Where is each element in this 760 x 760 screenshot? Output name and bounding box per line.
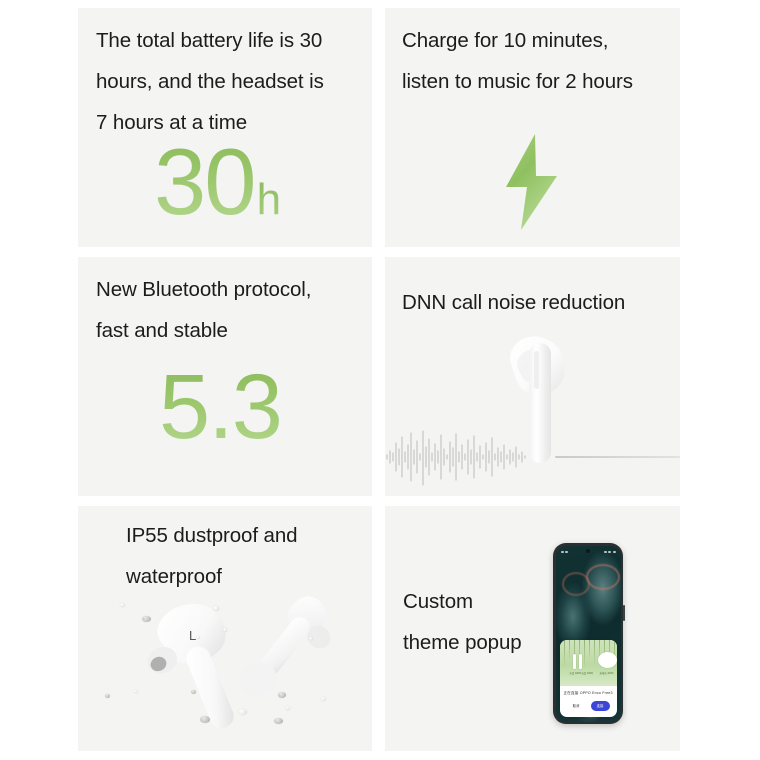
card-noise-reduction: DNN call noise reduction bbox=[385, 257, 680, 496]
water-droplet bbox=[134, 690, 138, 693]
popup-device-name: 正在连接 OPPO Enco Free3 bbox=[560, 686, 617, 699]
wallpaper-ring bbox=[586, 564, 620, 590]
signal-icon bbox=[604, 551, 607, 553]
water-droplet bbox=[105, 694, 110, 698]
popup-left-bud-label: 左耳 100% bbox=[570, 671, 582, 675]
water-droplet bbox=[142, 616, 151, 622]
battery-life-stat-number: 30 bbox=[154, 139, 255, 225]
popup-right-bud-label: 右耳 100% bbox=[582, 671, 594, 675]
phone-side-button bbox=[623, 605, 625, 621]
card-noise-reduction-title: DNN call noise reduction bbox=[402, 282, 677, 323]
popup-connect-button[interactable]: 连接 bbox=[591, 701, 610, 711]
water-droplet bbox=[321, 697, 326, 701]
feature-grid-page: The total battery life is 30 hours, and … bbox=[0, 0, 760, 760]
water-droplet bbox=[223, 628, 227, 632]
wifi-icon bbox=[608, 551, 611, 553]
card-battery-life: The total battery life is 30 hours, and … bbox=[78, 8, 372, 247]
grass-blade bbox=[584, 640, 585, 667]
water-droplet bbox=[191, 690, 196, 694]
status-bar-right bbox=[604, 551, 615, 553]
water-droplet bbox=[120, 603, 125, 607]
card-battery-life-title: The total battery life is 30 hours, and … bbox=[96, 20, 364, 143]
popup-left-earbud-icon bbox=[573, 654, 577, 669]
card-fast-charge: Charge for 10 minutes, listen to music f… bbox=[385, 8, 680, 247]
status-bar-left bbox=[561, 551, 568, 553]
popup-charging-case-icon bbox=[598, 652, 617, 668]
phone-screen: 左耳 100% 右耳 100% 充电仓 100% 正在连接 OPPO Enco … bbox=[556, 546, 621, 722]
lightning-bolt-icon bbox=[497, 132, 567, 228]
water-droplet bbox=[286, 706, 290, 710]
grass-blade bbox=[569, 640, 570, 660]
card-bluetooth-version: New Bluetooth protocol, fast and stable … bbox=[78, 257, 372, 496]
card-waterproof-title: IP55 dustproof and waterproof bbox=[126, 515, 366, 597]
card-waterproof: IP55 dustproof and waterproof bbox=[78, 506, 372, 751]
bluetooth-version-stat-number: 5.3 bbox=[159, 365, 281, 450]
card-custom-theme-title: Custom theme popup bbox=[403, 581, 563, 663]
phone-mockup: 左耳 100% 右耳 100% 充电仓 100% 正在连接 OPPO Enco … bbox=[553, 543, 623, 724]
water-droplet bbox=[274, 718, 283, 724]
water-droplet bbox=[309, 637, 313, 640]
water-droplet bbox=[196, 636, 200, 639]
water-droplet bbox=[213, 606, 219, 611]
earbud-marking-label: L bbox=[189, 628, 196, 643]
status-time-glyph bbox=[561, 551, 564, 553]
battery-life-stat-unit: h bbox=[257, 178, 280, 222]
phone-status-bar bbox=[556, 549, 621, 556]
status-time-glyph bbox=[565, 551, 568, 553]
wallpaper-ring bbox=[562, 572, 590, 596]
popup-hero-image: 左耳 100% 右耳 100% 充电仓 100% bbox=[560, 640, 617, 686]
popup-case-label: 充电仓 100% bbox=[600, 671, 614, 675]
card-custom-theme: Custom theme popup bbox=[385, 506, 680, 751]
card-fast-charge-title: Charge for 10 minutes, listen to music f… bbox=[402, 20, 674, 102]
water-droplet bbox=[200, 716, 210, 723]
water-droplet bbox=[238, 709, 247, 715]
battery-icon bbox=[613, 551, 616, 553]
card-bluetooth-version-title: New Bluetooth protocol, fast and stable bbox=[96, 269, 364, 351]
bluetooth-version-stat: 5.3 bbox=[159, 365, 283, 450]
grass-blade bbox=[594, 640, 595, 665]
popup-cancel-button[interactable]: 取消 bbox=[567, 701, 586, 711]
water-droplet bbox=[278, 692, 286, 698]
popup-right-earbud-icon bbox=[579, 654, 583, 669]
popup-actions: 取消 连接 bbox=[560, 699, 617, 717]
grass-blade bbox=[589, 640, 590, 659]
grass-blade bbox=[564, 640, 565, 666]
pairing-popup[interactable]: 左耳 100% 右耳 100% 充电仓 100% 正在连接 OPPO Enco … bbox=[560, 640, 617, 717]
battery-life-stat: 30 h bbox=[154, 139, 280, 225]
earbud-image bbox=[488, 327, 588, 472]
earbuds-pair-image bbox=[108, 586, 348, 741]
